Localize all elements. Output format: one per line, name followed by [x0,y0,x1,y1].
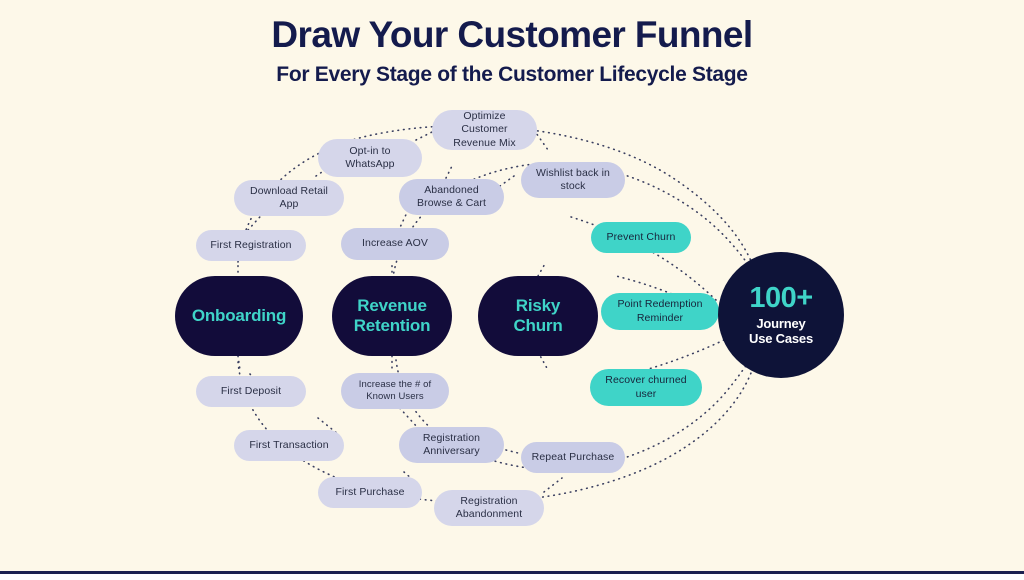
use-case-pill-increase-aov[interactable]: Increase AOV [341,228,449,260]
page-title: Draw Your Customer Funnel [0,16,1024,55]
pill-label: Download RetailApp [250,185,328,212]
pill-label: Increase AOV [362,237,428,250]
page-subtitle: For Every Stage of the Customer Lifecycl… [0,63,1024,86]
stage-capsule-risky-churn[interactable]: RiskyChurn [478,276,598,356]
use-case-pill-first-registration[interactable]: First Registration [196,230,306,261]
use-case-pill-increase-the-number-of-known-users[interactable]: Increase the # ofKnown Users [341,373,449,409]
use-case-pill-optimize-customer-revenue-mix[interactable]: OptimizeCustomerRevenue Mix [432,110,537,150]
stage-capsule-onboarding[interactable]: Onboarding [175,276,303,356]
pill-label: RegistrationAbandonment [456,495,522,522]
header: Draw Your Customer Funnel For Every Stag… [0,16,1024,86]
use-case-pill-recover-churned-user[interactable]: Recover churneduser [590,369,702,406]
use-case-pill-point-redemption-reminder[interactable]: Point RedemptionReminder [601,293,719,330]
infographic-canvas: Draw Your Customer Funnel For Every Stag… [0,0,1024,580]
stage-label: Onboarding [192,306,286,326]
use-case-pill-first-purchase[interactable]: First Purchase [318,477,422,508]
pill-label: Point RedemptionReminder [617,298,702,325]
use-case-pill-wishlist-back-in-stock[interactable]: Wishlist back instock [521,162,625,198]
pill-label: Wishlist back instock [536,167,610,194]
use-case-pill-first-transaction[interactable]: First Transaction [234,430,344,461]
pill-label: OptimizeCustomerRevenue Mix [453,110,515,150]
pill-label: AbandonedBrowse & Cart [417,184,486,211]
pill-label: First Deposit [221,385,281,398]
pill-label: Repeat Purchase [532,451,615,464]
pill-label: Increase the # ofKnown Users [359,379,431,403]
use-case-pill-abandoned-browse-and-cart[interactable]: AbandonedBrowse & Cart [399,179,504,215]
stage-label: RiskyChurn [513,296,562,337]
pill-label: RegistrationAnniversary [423,432,480,459]
use-case-pill-first-deposit[interactable]: First Deposit [196,376,306,407]
pill-label: First Transaction [249,439,328,452]
hub-caption: JourneyUse Cases [749,317,813,347]
pill-label: First Registration [210,239,291,252]
hub-count: 100+ [749,284,812,313]
stage-capsule-revenue-retention[interactable]: RevenueRetention [332,276,452,356]
pill-label: First Purchase [335,486,404,499]
use-case-pill-repeat-purchase[interactable]: Repeat Purchase [521,442,625,473]
stage-label: RevenueRetention [354,296,431,337]
use-case-pill-prevent-churn[interactable]: Prevent Churn [591,222,691,253]
pill-label: Prevent Churn [606,231,675,244]
use-case-pill-registration-anniversary[interactable]: RegistrationAnniversary [399,427,504,463]
use-case-pill-opt-in-to-whatsapp[interactable]: Opt-in toWhatsApp [318,139,422,177]
pill-label: Opt-in toWhatsApp [345,145,394,172]
journey-use-cases-hub[interactable]: 100+ JourneyUse Cases [718,252,844,378]
use-case-pill-download-retail-app[interactable]: Download RetailApp [234,180,344,216]
use-case-pill-registration-abandonment[interactable]: RegistrationAbandonment [434,490,544,526]
pill-label: Recover churneduser [605,374,686,401]
